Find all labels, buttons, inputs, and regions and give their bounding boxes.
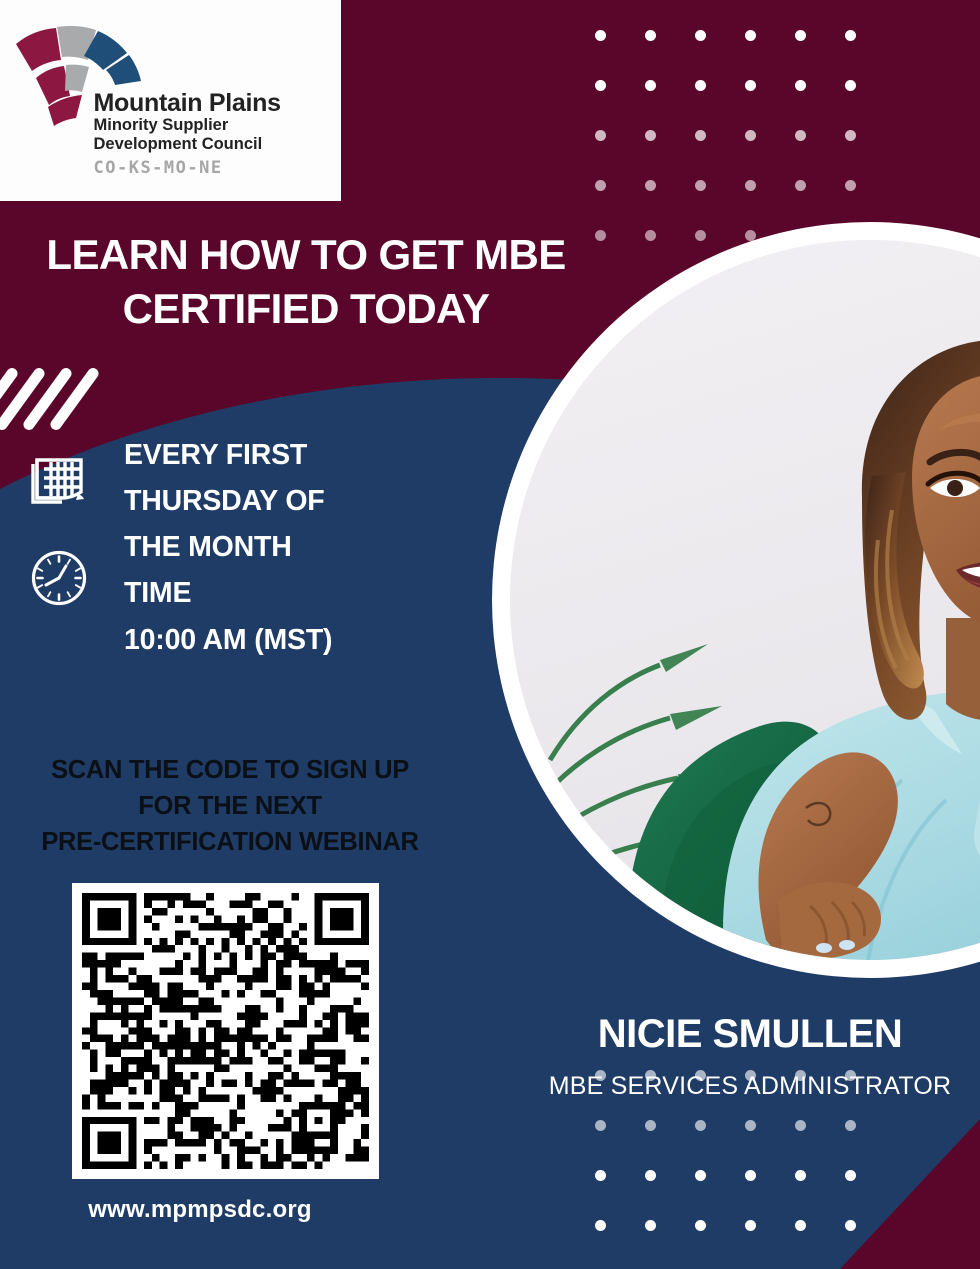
logo-line-4: CO-KS-MO-NE — [94, 158, 334, 178]
flyer-canvas: Mountain Plains Minority Supplier Develo… — [0, 0, 980, 1269]
decorative-slashes — [0, 362, 108, 442]
qr-code-image[interactable] — [82, 893, 369, 1169]
logo-line-2: Minority Supplier — [94, 116, 334, 135]
logo-line-1: Mountain Plains — [94, 90, 334, 116]
signup-line-3: PRE-CERTIFICATION WEBINAR — [0, 824, 460, 860]
website-url[interactable]: www.mpmpsdc.org — [0, 1196, 400, 1224]
logo-line-3: Development Council — [94, 135, 334, 154]
presenter-photo-art — [510, 240, 980, 960]
logo-wordmark: Mountain Plains Minority Supplier Develo… — [94, 90, 334, 178]
event-line-3: THE MONTH — [124, 524, 444, 570]
event-icon-column — [28, 450, 114, 614]
presenter-info: NICIE SMULLEN MBE SERVICES ADMINISTRATOR — [520, 1012, 980, 1101]
signup-line-2: FOR THE NEXT — [0, 788, 460, 824]
presenter-photo — [510, 240, 980, 960]
qr-code[interactable] — [72, 883, 379, 1179]
event-line-2: THURSDAY OF — [124, 478, 444, 524]
calendar-icon — [28, 450, 90, 512]
presenter-role: MBE SERVICES ADMINISTRATOR — [520, 1072, 980, 1101]
clock-icon — [28, 547, 90, 609]
event-line-4: TIME — [124, 570, 444, 616]
event-line-5: 10:00 AM (MST) — [124, 617, 444, 663]
event-text-lines: EVERY FIRSTTHURSDAY OFTHE MONTHTIME10:00… — [124, 432, 444, 663]
signup-instruction: SCAN THE CODE TO SIGN UP FOR THE NEXT PR… — [0, 752, 460, 861]
signup-line-1: SCAN THE CODE TO SIGN UP — [0, 752, 460, 788]
presenter-name: NICIE SMULLEN — [520, 1012, 980, 1056]
logo-card: Mountain Plains Minority Supplier Develo… — [0, 0, 341, 201]
event-line-1: EVERY FIRST — [124, 432, 444, 478]
